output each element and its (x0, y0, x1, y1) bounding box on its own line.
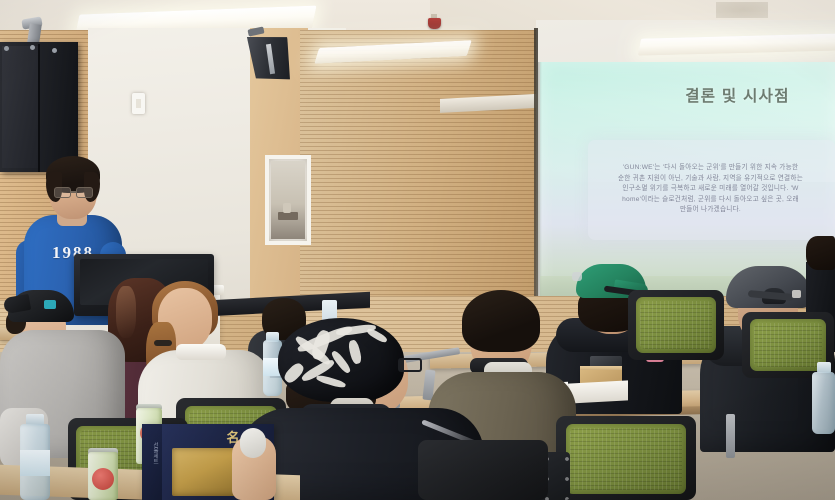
chair-mesh (640, 301, 712, 349)
alcove-object (283, 203, 291, 213)
presenter-glasses-lens-left (54, 187, 71, 198)
wall-alcove-interior (271, 161, 305, 239)
slide-body-line: 인구소멸 위기를 극복하고 새로운 미래를 열어갈 것입니다. 'W (586, 184, 835, 195)
chair-seat-back (636, 297, 716, 353)
audience-head-edge (806, 236, 835, 270)
chair-mesh (570, 428, 682, 490)
hair-highlight (116, 286, 136, 338)
speaker-seam (38, 44, 40, 172)
cap-tag (792, 290, 801, 298)
speaker-bolt (30, 45, 35, 50)
speaker-bolt (52, 48, 57, 53)
can-fruit-graphic-icon (92, 468, 114, 490)
ceiling-vent-icon (520, 0, 578, 8)
paper-sheet (568, 380, 628, 403)
chair-mesh (754, 323, 822, 367)
slide-body-text: 'GUN:WE'는 '다시 돌아오는 군위'를 만들기 위한 지속 가능한 순한… (586, 163, 835, 216)
hair-tie (154, 340, 172, 346)
water-bottle (812, 372, 835, 434)
alcove-object (278, 212, 298, 220)
slide-body-line: home'이라는 슬로건처럼, 군위를 다시 돌아오고 싶은 곳, 오래 (586, 195, 835, 206)
ceiling-vent-icon (716, 2, 768, 18)
audience-hair (462, 290, 540, 352)
slide-body-line: 만들어 나가겠습니다. (586, 205, 835, 216)
chair-frame (418, 440, 548, 500)
fire-sprinkler-icon (428, 18, 441, 29)
chair-seat-back (750, 319, 826, 371)
gift-box-side-text: 선물세트 (146, 442, 158, 490)
speaker-bolt (4, 46, 9, 51)
eyeglasses (398, 358, 422, 372)
projection-screen-edge (538, 62, 542, 300)
cap-clip (572, 272, 582, 281)
presenter-glasses-lens-right (76, 187, 93, 198)
wood-slat-wall-main (300, 30, 536, 330)
speaker-grille (2, 46, 38, 168)
jacket-collar (176, 344, 226, 360)
held-white-object (240, 428, 266, 458)
presenter-glasses-bridge (71, 191, 76, 193)
cap-logo-icon (44, 300, 56, 309)
slide-body-line: 순한 귀촌 지원이 아닌, 기술과 사람, 지역을 유기적으로 연결하는 (586, 174, 835, 185)
chair-seat-back (566, 424, 686, 494)
slide-body-line: 'GUN:WE'는 '다시 돌아오는 군위'를 만들기 위한 지속 가능한 (586, 163, 835, 174)
bottle-label (20, 450, 50, 476)
table-leg (726, 414, 735, 458)
seminar-room-photo: 결론 및 시사점 'GUN:WE'는 '다시 돌아오는 군위'를 만들기 위한 … (0, 0, 835, 500)
light-switch-rocker[interactable] (136, 99, 141, 108)
slide-title: 결론 및 시사점 (640, 84, 835, 106)
